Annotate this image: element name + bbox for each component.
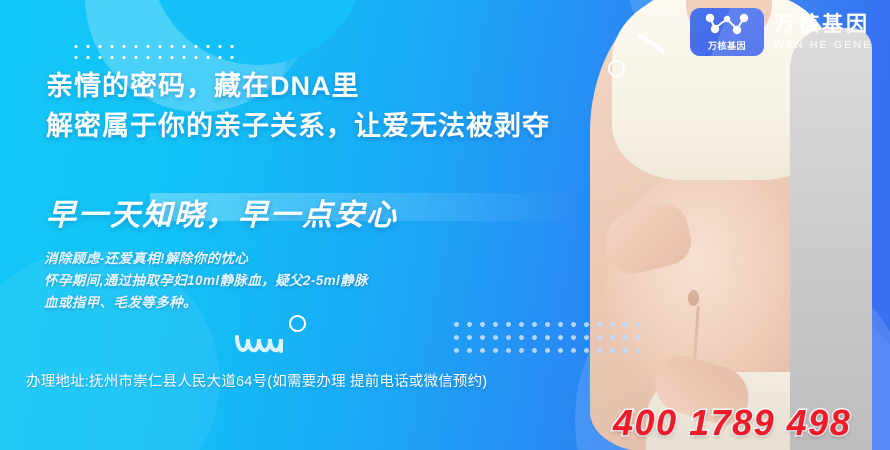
logo-badge: 万核基因 (690, 8, 764, 56)
photo-navel (688, 290, 699, 306)
headline: 亲情的密码，藏在DNA里 解密属于你的亲子关系，让爱无法被剥夺 (46, 66, 550, 146)
headline-line-2: 解密属于你的亲子关系，让爱无法被剥夺 (46, 106, 550, 146)
logo-wordmark: 万核基因 WAN HE GENE (774, 14, 873, 51)
wave-squiggle-icon (234, 331, 292, 361)
dot-grid-pattern (450, 318, 640, 354)
molecule-dna-icon (703, 12, 751, 38)
headline-line-1: 亲情的密码，藏在DNA里 (46, 66, 550, 106)
slogan-text: 早一天知晓，早一点安心 (46, 190, 398, 234)
logo-name-cn: 万核基因 (774, 14, 873, 35)
logo-name-en: WAN HE GENE (774, 40, 873, 51)
circle-outline-icon-bottom (289, 315, 306, 332)
logo-badge-label: 万核基因 (708, 39, 746, 52)
dot-row-pattern (70, 41, 242, 61)
body-line-3: 血或指甲、毛发等多种。 (44, 292, 368, 314)
circle-outline-icon-top (608, 60, 625, 77)
address-text: 办理地址:抚州市崇仁县人民大道64号(如需要办理 提前电话或微信预约) (26, 370, 487, 391)
promo-banner: 万核基因 万核基因 WAN HE GENE 亲情的密码，藏在DNA里 解密属于你… (0, 0, 890, 450)
body-line-2: 怀孕期间,通过抽取孕妇10ml静脉血，疑父2-5ml静脉 (44, 270, 368, 292)
brand-logo[interactable]: 万核基因 万核基因 WAN HE GENE (690, 8, 873, 56)
phone-number[interactable]: 400 1789 498 (613, 402, 851, 444)
photo-cardigan (790, 28, 872, 450)
body-line-1: 消除顾虑-还爱真相!解除你的忧心 (44, 248, 368, 270)
comma-stroke-icon (638, 33, 668, 55)
body-copy: 消除顾虑-还爱真相!解除你的忧心 怀孕期间,通过抽取孕妇10ml静脉血，疑父2-… (44, 248, 368, 314)
